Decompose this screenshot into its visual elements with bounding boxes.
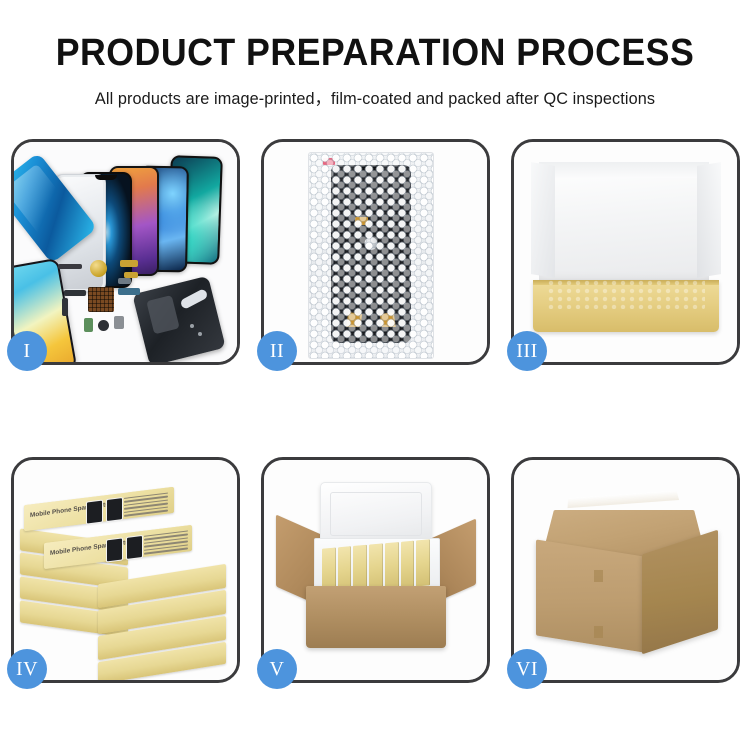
panel-3-image bbox=[514, 142, 737, 362]
carton-sealing-tape bbox=[568, 491, 680, 508]
packed-box-3 bbox=[353, 545, 367, 592]
packed-box-5 bbox=[385, 542, 399, 589]
panel-5-image bbox=[264, 460, 487, 680]
box-product-image-a bbox=[106, 537, 123, 562]
carton-seam-upper bbox=[594, 570, 603, 582]
part-flex-cable-1 bbox=[64, 290, 86, 296]
panel-6-badge: VI bbox=[507, 649, 547, 689]
part-screw-2 bbox=[198, 332, 202, 336]
bubble-wrap-bag bbox=[308, 152, 434, 359]
panel-1-image bbox=[14, 142, 237, 362]
foam-lid bbox=[320, 482, 432, 546]
bubble-insert-gray bbox=[547, 279, 705, 309]
carton-seam-lower bbox=[594, 626, 603, 638]
panel-4-badge: IV bbox=[7, 649, 47, 689]
carton-front-panel bbox=[306, 586, 446, 648]
part-battery-small bbox=[84, 318, 93, 332]
box-product-image-b bbox=[126, 535, 143, 560]
foam-flap-right bbox=[697, 162, 721, 278]
box-product-image-d bbox=[106, 497, 123, 522]
panel-6-image bbox=[514, 460, 737, 680]
part-flex-cable-4 bbox=[118, 278, 131, 284]
chip-grid-part bbox=[88, 287, 114, 312]
process-step-panel-6[interactable]: VI bbox=[511, 457, 740, 683]
panel-4-image: Mobile Phone Spare Parts Mobile Phone Sp… bbox=[14, 460, 237, 680]
page-subtitle: All products are image-printed，film-coat… bbox=[6, 85, 745, 109]
packed-box-6 bbox=[401, 541, 415, 588]
panel-2-badge: II bbox=[257, 331, 297, 371]
part-strip-1 bbox=[58, 264, 82, 269]
foam-liner-back bbox=[539, 162, 709, 284]
packed-box-7 bbox=[416, 539, 430, 586]
part-screw-1 bbox=[190, 324, 194, 328]
sealed-shipping-carton bbox=[532, 486, 722, 654]
bubble-texture-back bbox=[309, 153, 433, 358]
process-step-grid: I II bbox=[11, 139, 739, 683]
open-shipping-carton bbox=[278, 482, 474, 658]
printed-box-1: Mobile Phone Spare Parts bbox=[24, 487, 174, 531]
retail-box-stack: Mobile Phone Spare Parts Mobile Phone Sp… bbox=[20, 478, 230, 673]
box-product-image-c bbox=[86, 500, 103, 525]
packed-box-4 bbox=[369, 543, 383, 590]
part-flex-cable-3 bbox=[118, 288, 140, 295]
part-flex-cable-2 bbox=[62, 298, 68, 316]
process-step-panel-1[interactable]: I bbox=[11, 139, 240, 365]
part-connector-gold bbox=[120, 260, 138, 267]
part-metal-bracket bbox=[114, 316, 124, 329]
page-header: PRODUCT PREPARATION PROCESS All products… bbox=[0, 0, 750, 109]
panel-1-badge: I bbox=[7, 331, 47, 371]
open-kraft-box bbox=[531, 158, 721, 338]
panel-5-badge: V bbox=[257, 649, 297, 689]
process-step-panel-3[interactable]: III bbox=[511, 139, 740, 365]
foam-flap-left bbox=[531, 162, 555, 278]
carton-front-face bbox=[536, 539, 644, 652]
kraft-tray-base bbox=[533, 280, 719, 332]
part-camera-module bbox=[98, 320, 109, 331]
process-step-panel-5[interactable]: V bbox=[261, 457, 490, 683]
foam-fold-top bbox=[539, 162, 709, 178]
process-step-panel-2[interactable]: II bbox=[261, 139, 490, 365]
page-title: PRODUCT PREPARATION PROCESS bbox=[23, 34, 728, 74]
process-step-panel-4[interactable]: Mobile Phone Spare Parts Mobile Phone Sp… bbox=[11, 457, 240, 683]
panel-3-badge: III bbox=[507, 331, 547, 371]
panel-2-image bbox=[264, 142, 487, 362]
speaker-part-icon bbox=[90, 260, 107, 277]
